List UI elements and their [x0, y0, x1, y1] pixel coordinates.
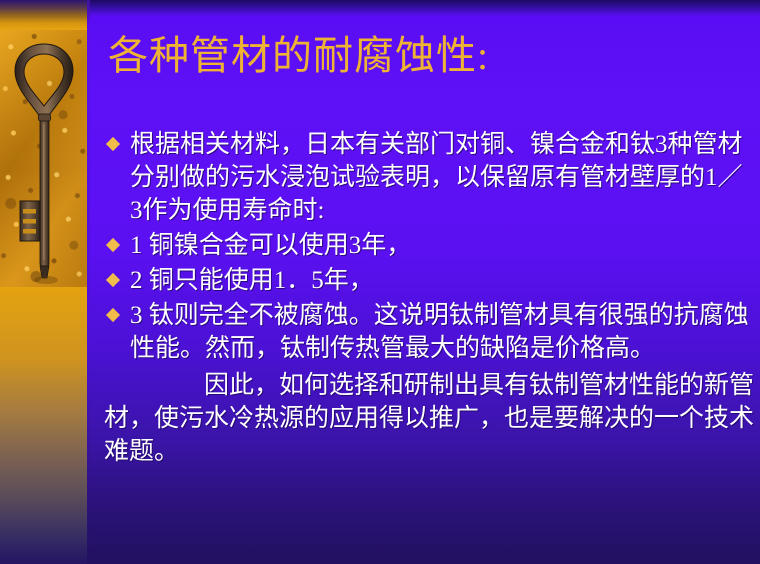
iron-key-icon: [0, 26, 90, 287]
list-item: 2 铜只能使用1．5年，: [104, 264, 754, 297]
photo-top-fade: [0, 0, 90, 30]
list-item: 3 钛则完全不被腐蚀。这说明钛制管材具有很强的抗腐蚀性能。然而，钛制传热管最大的…: [104, 299, 754, 365]
diamond-bullet-icon: [106, 308, 120, 322]
presentation-slide: 各种管材的耐腐蚀性: 根据相关材料，日本有关部门对铜、镍合金和钛3种管材分别做的…: [0, 0, 760, 564]
list-item: 1 铜镍合金可以使用3年，: [104, 229, 754, 262]
bullet-text: 1 铜镍合金可以使用3年，: [130, 229, 754, 262]
diamond-bullet-icon: [106, 273, 120, 287]
panel-edge-seam: [87, 0, 90, 564]
slide-body: 根据相关材料，日本有关部门对铜、镍合金和钛3种管材分别做的污水浸泡试验表明，以保…: [104, 128, 754, 468]
slide-title: 各种管材的耐腐蚀性:: [108, 33, 748, 79]
closing-paragraph: 因此，如何选择和研制出具有钛制管材性能的新管材，使污水冷热源的应用得以推广，也是…: [104, 369, 754, 468]
list-item: 根据相关材料，日本有关部门对铜、镍合金和钛3种管材分别做的污水浸泡试验表明，以保…: [104, 128, 754, 227]
bullet-text: 2 铜只能使用1．5年，: [130, 264, 754, 297]
key-photo-panel: [0, 0, 90, 564]
diamond-bullet-icon: [106, 137, 120, 151]
diamond-bullet-icon: [106, 238, 120, 252]
key-photograph: [0, 0, 90, 287]
bullet-text: 3 钛则完全不被腐蚀。这说明钛制管材具有很强的抗腐蚀性能。然而，钛制传热管最大的…: [130, 299, 754, 365]
bullet-text: 根据相关材料，日本有关部门对铜、镍合金和钛3种管材分别做的污水浸泡试验表明，以保…: [130, 128, 754, 227]
